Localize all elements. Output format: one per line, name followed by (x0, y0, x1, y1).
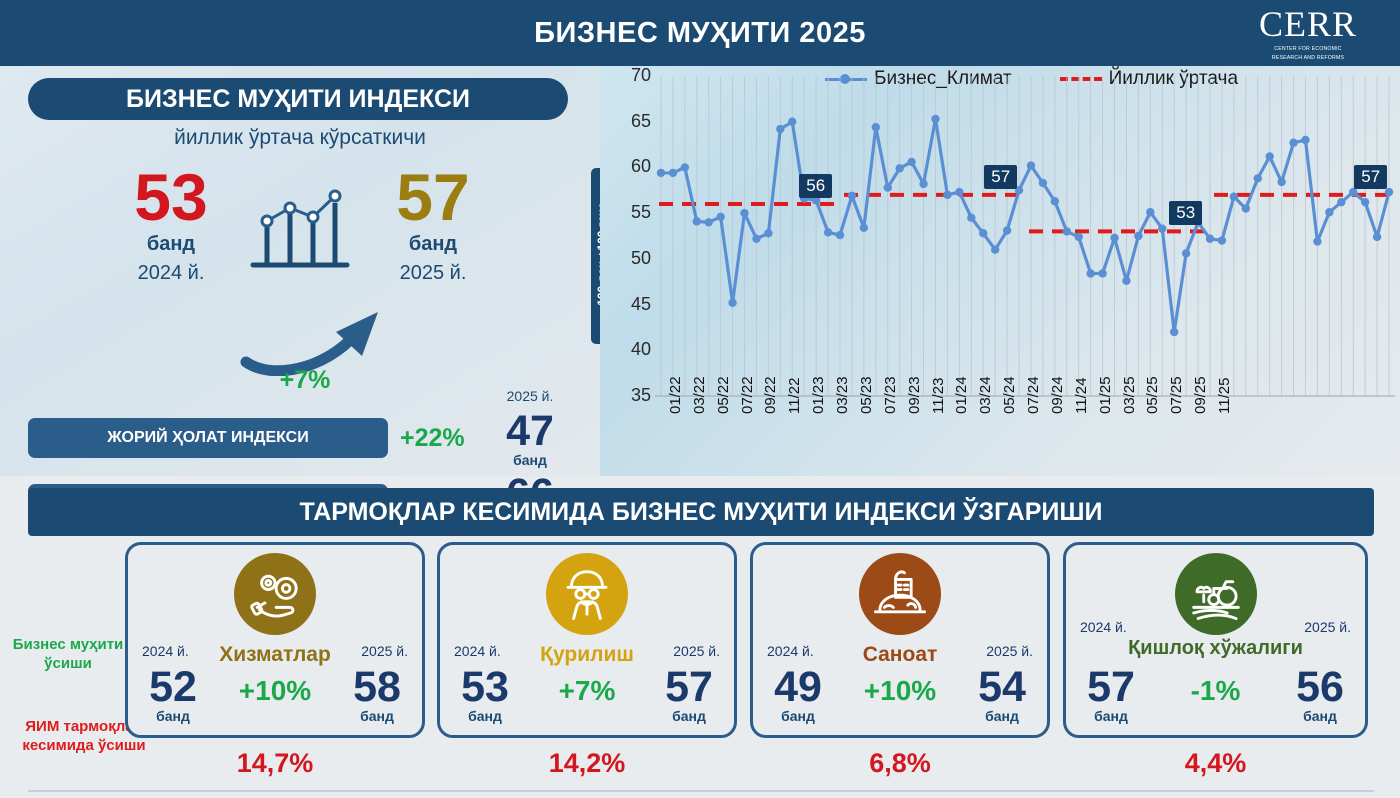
y-axis-tick: 50 (611, 248, 651, 269)
industry-factory-icon (859, 553, 941, 635)
index-panel-subtitle: йиллик ўртача кўрсаткичи (0, 126, 600, 150)
x-axis-tick: 05/22 (715, 376, 732, 414)
x-axis-tick: 05/24 (1001, 376, 1018, 414)
sector-card-name: Қишлоқ хўжалиги (1066, 637, 1365, 660)
x-axis-tick: 11/25 (1216, 378, 1233, 414)
y-axis-tick: 65 (611, 111, 651, 132)
index-panel-title-text: БИЗНЕС МУҲИТИ ИНДЕКСИ (126, 85, 470, 114)
chart-annotation-2024: 53 (1169, 201, 1202, 225)
sector-section-banner-text: ТАРМОҚЛАР КЕСИМИДА БИЗНЕС МУҲИТИ ИНДЕКСИ… (300, 498, 1103, 527)
footer-divider (28, 790, 1374, 792)
index-2024-unit: банд (96, 233, 246, 256)
x-axis-tick: 03/23 (834, 376, 851, 414)
current-state-index-label: ЖОРИЙ ҲОЛАТ ИНДЕКСИ (107, 429, 308, 447)
index-panel: БИЗНЕС МУҲИТИ ИНДЕКСИ йиллик ўртача кўрс… (0, 66, 600, 476)
x-axis-tick: 11/22 (786, 378, 803, 414)
x-axis-tick: 09/24 (1049, 376, 1066, 414)
x-axis-tick: 03/25 (1121, 376, 1138, 414)
sector-card-gdp-growth: 14,2% (437, 748, 737, 779)
sector-card-unit-left: банд (448, 708, 522, 724)
sector-card-3[interactable]: 2024 й.2025 й.Саноат49банд+10%54банд (750, 542, 1050, 738)
y-axis-tick: 40 (611, 339, 651, 360)
x-axis-tick: 07/24 (1025, 376, 1042, 414)
current-state-index-bar[interactable]: ЖОРИЙ ҲОЛАТ ИНДЕКСИ (28, 418, 388, 458)
index-2025-year: 2025 й. (358, 262, 508, 285)
x-axis-tick: 05/25 (1144, 376, 1161, 414)
sector-card-gdp-growth: 4,4% (1063, 748, 1368, 779)
sector-card-value-2025-block: 58банд (340, 667, 414, 724)
sector-card-value-2025: 58 (340, 667, 414, 708)
y-axis-tick: 45 (611, 294, 651, 315)
index-2024-year: 2024 й. (96, 262, 246, 285)
sector-card-gdp-growth: 14,7% (125, 748, 425, 779)
chart-annotation-2022: 56 (799, 174, 832, 198)
sector-section-banner: ТАРМОҚЛАР КЕСИМИДА БИЗНЕС МУҲИТИ ИНДЕКСИ… (28, 488, 1374, 536)
sector-card-value-2025: 57 (652, 667, 726, 708)
index-panel-title: БИЗНЕС МУҲИТИ ИНДЕКСИ (28, 78, 568, 120)
sector-card-value-2025-block: 56банд (1283, 667, 1357, 724)
bar-chart-icon (245, 181, 355, 276)
sector-card-value-2025: 54 (965, 667, 1039, 708)
index-rows-year-label: 2025 й. (490, 388, 570, 404)
agriculture-tractor-icon (1175, 553, 1257, 635)
x-axis-tick: 03/24 (977, 376, 994, 414)
sector-card-value-2025-block: 54банд (965, 667, 1039, 724)
current-state-index-value-block: 47 банд (490, 411, 570, 468)
x-axis-tick: 01/23 (810, 376, 827, 414)
sector-card-2[interactable]: 2024 й.2025 й.Қурилиш53банд+7%57банд (437, 542, 737, 738)
sector-card-gdp-growth: 6,8% (750, 748, 1050, 779)
y-axis-tick: 35 (611, 385, 651, 406)
page-title: БИЗНЕС МУҲИТИ 2025 (534, 17, 866, 50)
index-2024-value: 53 (96, 166, 246, 229)
cerr-logo: CERR CENTER FOR ECONOMIC RESEARCH AND RE… (1238, 6, 1378, 62)
sector-card-year-2025: 2025 й. (1304, 619, 1351, 635)
x-axis-tick: 01/22 (667, 376, 684, 414)
index-2025-value: 57 (358, 166, 508, 229)
logo-wordmark: CERR (1259, 6, 1357, 42)
x-axis-tick: 03/22 (691, 376, 708, 414)
sector-card-value-2025: 56 (1283, 667, 1357, 708)
logo-subtitle-line2: RESEARCH AND REFORMS (1272, 55, 1344, 62)
x-axis-tick: 01/24 (953, 376, 970, 414)
index-growth-pct: +7% (250, 366, 360, 395)
services-gear-hand-icon (234, 553, 316, 635)
x-axis-tick: 05/23 (858, 376, 875, 414)
sector-card-1[interactable]: 2024 й.2025 й.Хизматлар52банд+10%58банд (125, 542, 425, 738)
business-climate-chart: Бизнес_Климат Йиллик ўртача 706560555045… (600, 66, 1400, 476)
construction-worker-icon (546, 553, 628, 635)
x-axis-tick: 09/23 (906, 376, 923, 414)
sector-card-unit-left: банд (761, 708, 835, 724)
sector-card-value-2025-block: 57банд (652, 667, 726, 724)
x-axis-tick: 09/25 (1192, 376, 1209, 414)
sector-card-unit-left: банд (1074, 708, 1148, 724)
sector-cards-container: 2024 й.2025 й.Хизматлар52банд+10%58банд1… (0, 540, 1400, 798)
y-axis-tick: 70 (611, 65, 651, 86)
x-axis-tick: 07/25 (1168, 376, 1185, 414)
x-axis-tick: 11/23 (930, 378, 947, 414)
x-axis-tick: 01/25 (1097, 376, 1114, 414)
logo-subtitle-line1: CENTER FOR ECONOMIC (1274, 46, 1342, 53)
x-axis-tick: 09/22 (762, 376, 779, 414)
y-axis-tick: 60 (611, 156, 651, 177)
chart-annotation-2023: 57 (984, 165, 1017, 189)
sector-card-unit-right: банд (652, 708, 726, 724)
index-2025-unit: банд (358, 233, 508, 256)
x-axis-tick: 07/22 (739, 376, 756, 414)
current-state-index-value: 47 (490, 411, 570, 452)
page-header: БИЗНЕС МУҲИТИ 2025 CERR CENTER FOR ECONO… (0, 0, 1400, 66)
sector-card-4[interactable]: 2024 й.2025 й.Қишлоқ хўжалиги57банд-1%56… (1063, 542, 1368, 738)
chart-annotation-2025: 57 (1354, 165, 1387, 189)
sector-card-year-2024: 2024 й. (1080, 619, 1127, 635)
sector-card-unit-right: банд (1283, 708, 1357, 724)
x-axis-tick: 07/23 (882, 376, 899, 414)
sector-card-unit-right: банд (965, 708, 1039, 724)
current-state-index-unit: банд (490, 452, 570, 468)
sector-card-unit-right: банд (340, 708, 414, 724)
chart-plot-area: 70656055504540355657535701/2203/2205/220… (655, 76, 1395, 396)
index-2025-block: 57 банд 2025 й. (358, 166, 508, 285)
current-state-index-pct: +22% (400, 424, 465, 453)
y-axis-tick: 55 (611, 202, 651, 223)
x-axis-tick: 11/24 (1073, 378, 1090, 414)
index-2024-block: 53 банд 2024 й. (96, 166, 246, 285)
sector-card-unit-left: банд (136, 708, 210, 724)
